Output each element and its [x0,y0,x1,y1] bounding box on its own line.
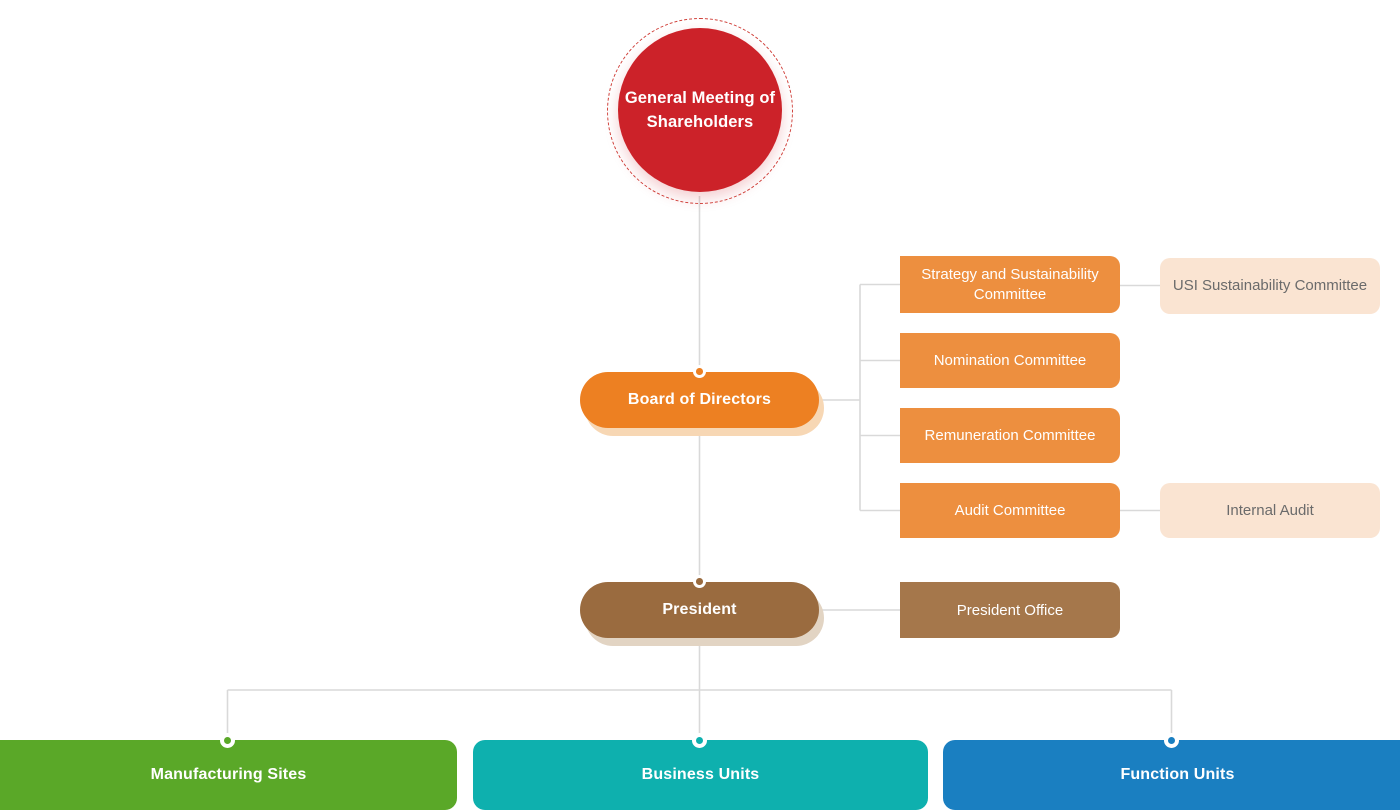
function-units-connector-knob [1164,733,1179,748]
org-chart-diagram: General Meeting of Shareholders Board of… [0,0,1400,810]
board-connector-knob [693,365,706,378]
unit-label: Manufacturing Sites [151,766,307,784]
node-general-meeting-of-shareholders[interactable]: General Meeting of Shareholders [607,18,793,204]
node-nomination-committee[interactable]: Nomination Committee [900,333,1120,388]
president-office-label: President Office [957,602,1063,619]
committee-label: Audit Committee [955,501,1066,521]
sub-unit-label: Internal Audit [1226,501,1314,521]
node-board-of-directors[interactable]: Board of Directors [580,372,819,428]
sub-unit-label: USI Sustainability Committee [1173,276,1367,296]
manufacturing-sites-connector-knob [220,733,235,748]
committee-label: Strategy and Sustainability Committee [910,265,1110,304]
committee-label: Remuneration Committee [925,426,1096,446]
node-president[interactable]: President [580,582,819,638]
node-audit-committee[interactable]: Audit Committee [900,483,1120,538]
business-units-connector-knob [692,733,707,748]
node-business-units[interactable]: Business Units [473,740,928,810]
president-connector-knob [693,575,706,588]
board-label: Board of Directors [628,391,771,409]
node-president-office[interactable]: President Office [900,582,1120,638]
node-function-units[interactable]: Function Units [943,740,1400,810]
president-label: President [662,601,736,619]
node-strategy-and-sustainability-committee[interactable]: Strategy and Sustainability Committee [900,256,1120,313]
node-remuneration-committee[interactable]: Remuneration Committee [900,408,1120,463]
node-usi-sustainability-committee[interactable]: USI Sustainability Committee [1160,258,1380,314]
node-internal-audit[interactable]: Internal Audit [1160,483,1380,538]
committee-label: Nomination Committee [934,351,1087,371]
unit-label: Function Units [1120,766,1234,784]
unit-label: Business Units [642,766,760,784]
node-manufacturing-sites[interactable]: Manufacturing Sites [0,740,457,810]
shareholders-circle[interactable]: General Meeting of Shareholders [618,28,782,192]
shareholders-label: General Meeting of Shareholders [618,86,782,134]
